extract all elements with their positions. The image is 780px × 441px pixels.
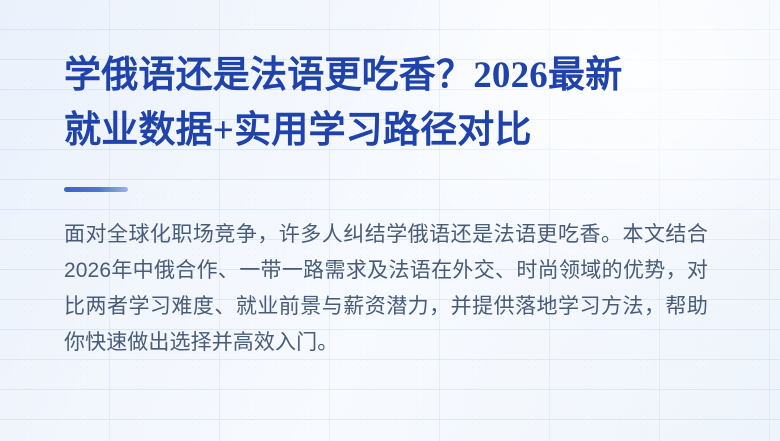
page-title: 学俄语还是法语更吃香？2026最新 就业数据+实用学习路径对比 [64,0,714,158]
page-title-line-1: 学俄语还是法语更吃香？2026最新 [64,48,714,103]
article-summary: 面对全球化职场竞争，许多人纠结学俄语还是法语更吃香。本文结合2026年中俄合作、… [64,192,708,361]
page-title-line-2: 就业数据+实用学习路径对比 [64,103,714,158]
cover-content: 学俄语还是法语更吃香？2026最新 就业数据+实用学习路径对比 面对全球化职场竞… [0,0,780,361]
article-cover-card: 学俄语还是法语更吃香？2026最新 就业数据+实用学习路径对比 面对全球化职场竞… [0,0,780,441]
